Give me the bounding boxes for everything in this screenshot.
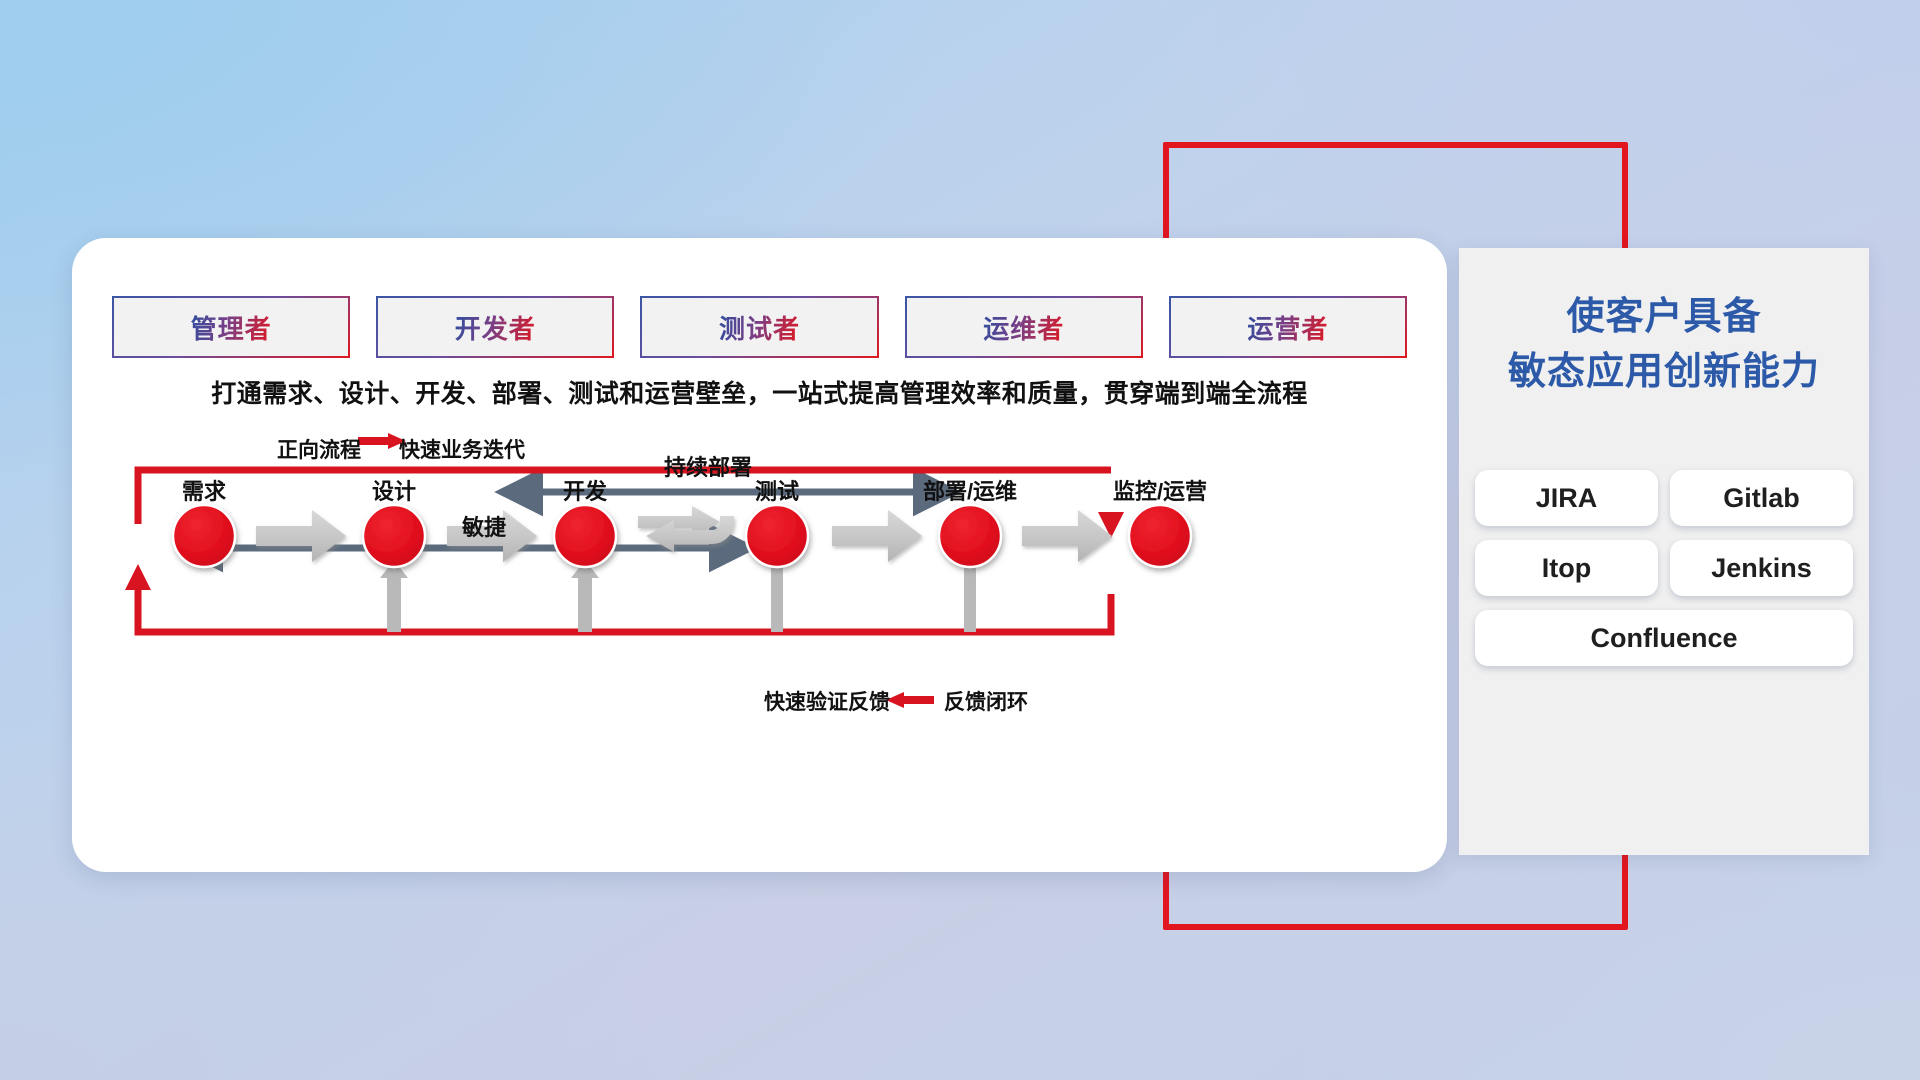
panel-title-line-2: 敏态应用创新能力 xyxy=(1477,345,1851,400)
node-label-design: 设计 xyxy=(372,474,416,506)
node-riser-stubs xyxy=(380,558,976,632)
panel-title: 使客户具备 敏态应用创新能力 xyxy=(1459,248,1869,400)
tool-chip-gitlab[interactable]: Gitlab xyxy=(1670,470,1853,526)
tool-chip-list: JIRA Gitlab Itop Jenkins Confluence xyxy=(1467,470,1861,666)
pipeline-diagram xyxy=(72,238,1447,872)
pipeline-node-circle[interactable] xyxy=(173,505,235,567)
pipeline-node-circle[interactable] xyxy=(1129,505,1191,567)
value-proposition-panel: 使客户具备 敏态应用创新能力 JIRA Gitlab Itop Jenkins … xyxy=(1459,248,1869,855)
node-label-monitor-ops: 监控/运营 xyxy=(1113,474,1207,506)
pipeline-node-circle[interactable] xyxy=(746,505,808,567)
pipeline-node-circle[interactable] xyxy=(554,505,616,567)
pipeline-node-circle[interactable] xyxy=(363,505,425,567)
continuous-deployment-label: 持续部署 xyxy=(664,450,752,482)
tool-chip-jira[interactable]: JIRA xyxy=(1475,470,1658,526)
tool-chip-confluence[interactable]: Confluence xyxy=(1475,610,1853,666)
loop-up-arrowhead-icon xyxy=(125,564,151,590)
node-label-deploy-ops: 部署/运维 xyxy=(923,474,1017,506)
tool-chip-itop[interactable]: Itop xyxy=(1475,540,1658,596)
connector-arrow-4-icon xyxy=(832,510,922,562)
panel-title-line-1: 使客户具备 xyxy=(1477,290,1851,345)
node-label-test: 测试 xyxy=(755,474,799,506)
agile-label: 敏捷 xyxy=(462,510,506,542)
feedback-result-label: 快速验证反馈 xyxy=(764,686,890,716)
connector-arrow-5-icon xyxy=(1022,510,1112,562)
feedback-annotation-arrow-icon xyxy=(886,692,934,708)
pipeline-node-circle[interactable] xyxy=(939,505,1001,567)
forward-process-label: 正向流程 xyxy=(277,434,361,464)
node-label-develop: 开发 xyxy=(563,474,607,506)
feedback-loop-label: 反馈闭环 xyxy=(944,686,1028,716)
main-diagram-card: 管理者 开发者 测试者 运维者 运营者 打通需求、设计、开发、部署、测试和运营壁… xyxy=(72,238,1447,872)
forward-process-result: 快速业务迭代 xyxy=(399,434,525,464)
tool-chip-jenkins[interactable]: Jenkins xyxy=(1670,540,1853,596)
node-label-requirement: 需求 xyxy=(182,474,226,506)
connector-arrow-1-icon xyxy=(256,510,346,562)
